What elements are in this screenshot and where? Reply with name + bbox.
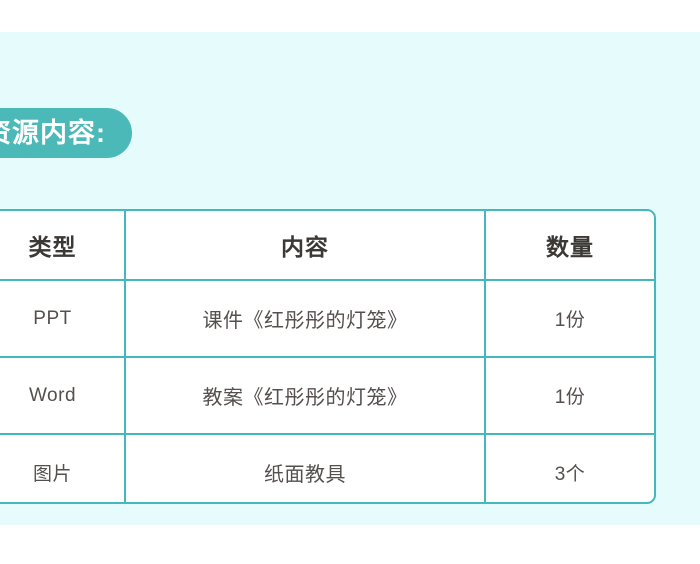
cell-quantity: 3个 xyxy=(485,434,654,504)
resource-card-panel: 资源内容: 类型 内容 数量 PPT 课件《红彤彤的灯笼》 1份 xyxy=(0,32,700,525)
table-header: 类型 内容 数量 xyxy=(0,211,654,280)
cell-type: PPT xyxy=(0,280,125,357)
table-body: PPT 课件《红彤彤的灯笼》 1份 Word 教案《红彤彤的灯笼》 1份 图片 … xyxy=(0,280,654,504)
cell-content: 教案《红彤彤的灯笼》 xyxy=(125,357,485,434)
section-title-badge: 资源内容: xyxy=(0,108,132,158)
table-row: PPT 课件《红彤彤的灯笼》 1份 xyxy=(0,280,654,357)
column-header-content: 内容 xyxy=(125,211,485,280)
cell-content: 课件《红彤彤的灯笼》 xyxy=(125,280,485,357)
table-row: 图片 纸面教具 3个 xyxy=(0,434,654,504)
table-row: Word 教案《红彤彤的灯笼》 1份 xyxy=(0,357,654,434)
cell-type: 图片 xyxy=(0,434,125,504)
resource-table-grid: 类型 内容 数量 PPT 课件《红彤彤的灯笼》 1份 Word 教案《红彤彤的灯… xyxy=(0,211,654,504)
cell-quantity: 1份 xyxy=(485,280,654,357)
cell-quantity: 1份 xyxy=(485,357,654,434)
cell-content: 纸面教具 xyxy=(125,434,485,504)
column-header-quantity: 数量 xyxy=(485,211,654,280)
column-header-type: 类型 xyxy=(0,211,125,280)
section-title-label: 资源内容: xyxy=(0,120,106,147)
cell-type: Word xyxy=(0,357,125,434)
resource-table: 类型 内容 数量 PPT 课件《红彤彤的灯笼》 1份 Word 教案《红彤彤的灯… xyxy=(0,209,656,504)
table-header-row: 类型 内容 数量 xyxy=(0,211,654,280)
